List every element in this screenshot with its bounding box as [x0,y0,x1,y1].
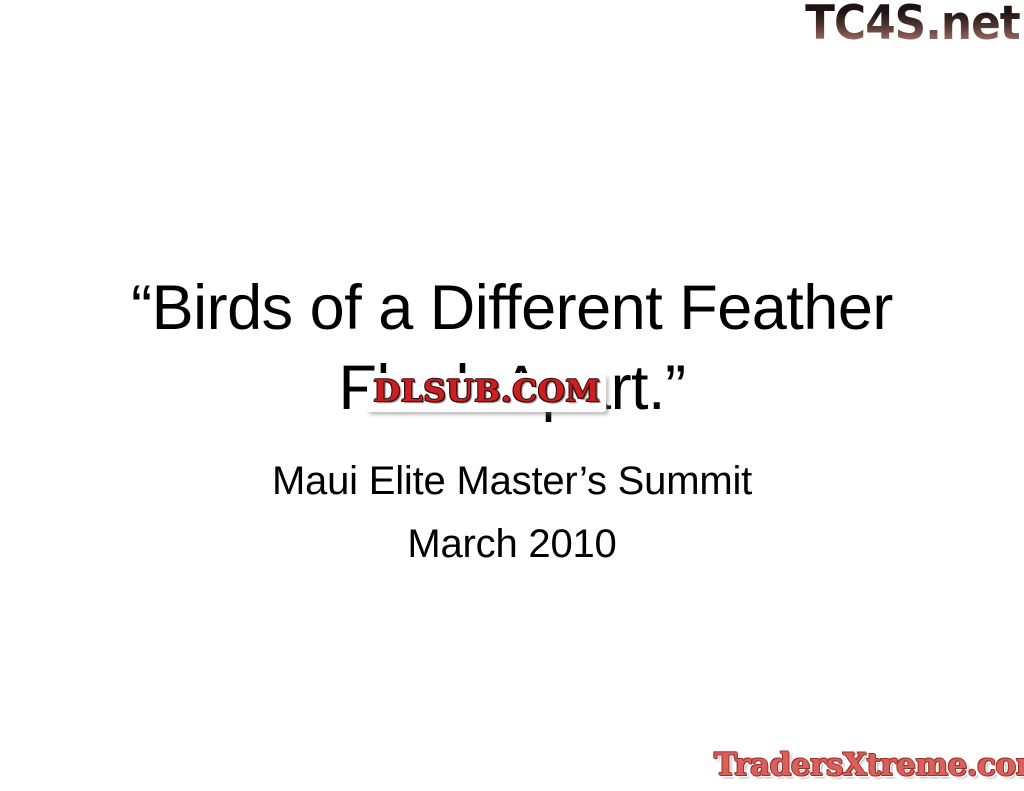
tc4s-net-watermark: TC4S.net [805,0,1020,50]
presentation-slide: TC4S.net “Birds of a Different Feather F… [0,0,1024,791]
subtitle-line-1: Maui Elite Master’s Summit [0,450,1024,513]
title-line-1: “Birds of a Different Feather [0,268,1024,348]
tradersxtreme-com-watermark: TradersXtreme.com [714,746,1024,784]
slide-subtitle: Maui Elite Master’s Summit March 2010 [0,450,1024,576]
subtitle-line-2: March 2010 [0,513,1024,576]
dlsub-com-watermark: DLSUB.COM [367,373,607,412]
